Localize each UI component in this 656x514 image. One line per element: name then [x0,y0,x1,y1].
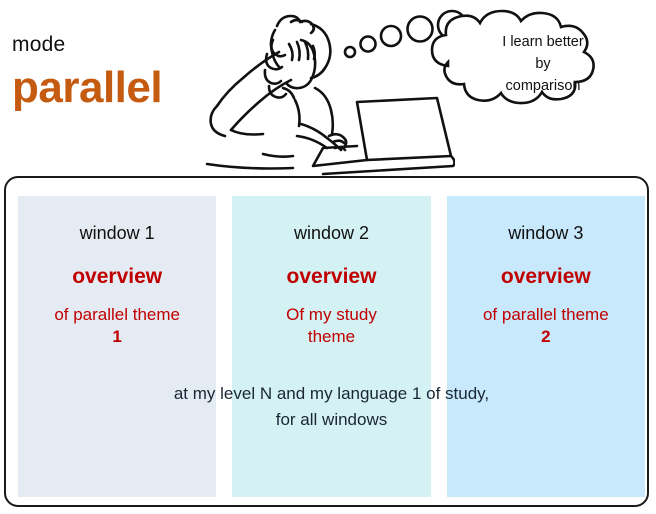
header-area: mode parallel [0,0,656,176]
thought-bubble-line-1: I learn better [455,31,631,53]
window-panel-3-heading: overview [447,266,645,287]
mode-value: parallel [12,66,162,110]
window-panel-1-sub-line-1: of parallel theme [54,305,180,324]
window-panel-1-heading: overview [18,266,216,287]
window-panel-1[interactable]: window 1 overview of parallel theme 1 [18,196,216,497]
window-panel-1-sub-line-2: 1 [18,326,216,348]
window-panel-2-sub-line-2: theme [232,326,430,348]
window-panel-3-title: window 3 [447,224,645,242]
thought-bubble-line-2: by [455,53,631,75]
mode-label: mode [12,34,65,55]
window-panel-1-title: window 1 [18,224,216,242]
window-panel-2[interactable]: window 2 overview Of my study theme [232,196,430,497]
window-panel-3-sub-line-1: of parallel theme [483,305,609,324]
window-panel-2-subtitle: Of my study theme [232,304,430,349]
window-panel-2-sub-line-1: Of my study [286,305,377,324]
window-panel-1-subtitle: of parallel theme 1 [18,304,216,349]
window-panel-2-heading: overview [232,266,430,287]
window-panel-3[interactable]: window 3 overview of parallel theme 2 [447,196,645,497]
window-panel-2-title: window 2 [232,224,430,242]
window-panel-3-sub-line-2: 2 [447,326,645,348]
window-panel-3-subtitle: of parallel theme 2 [447,304,645,349]
thought-bubble-text: I learn better by comparison [455,31,631,97]
thought-bubble-line-3: comparison [455,75,631,97]
windows-panel-row: window 1 overview of parallel theme 1 wi… [18,196,645,497]
